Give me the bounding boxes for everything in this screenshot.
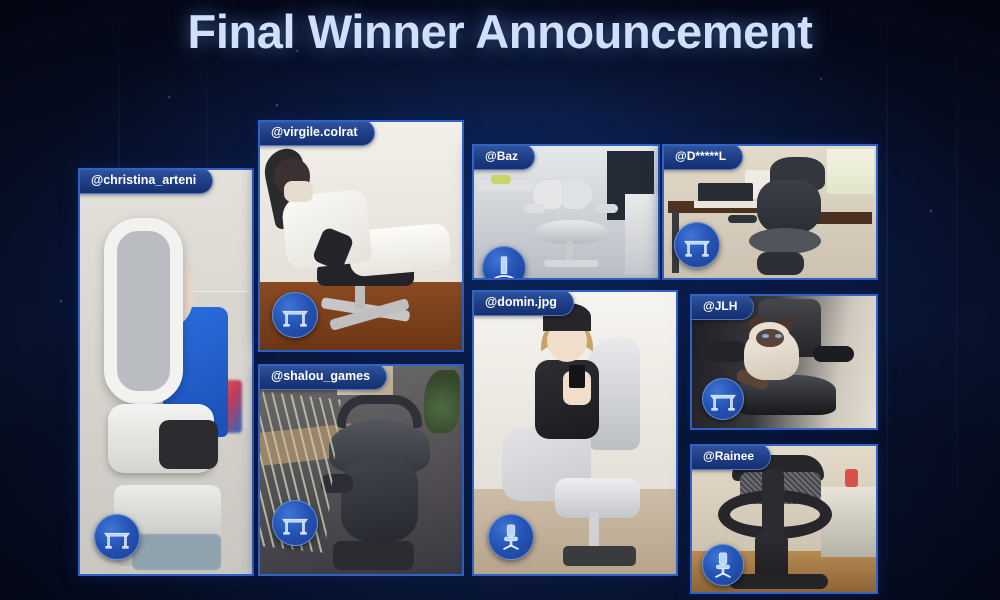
background-sparkle: [930, 210, 932, 212]
gallery-entry[interactable]: @Rainee: [690, 444, 878, 594]
entry-username: @shalou_games: [258, 364, 387, 390]
gallery-entry[interactable]: @virgile.colrat: [258, 120, 464, 352]
entry-username: @Baz: [472, 144, 535, 170]
background-sparkle: [820, 78, 822, 80]
background-light-streak: [886, 0, 888, 600]
announcement-slide: Final Winner Announcement @christina_art…: [0, 0, 1000, 600]
gallery-entry[interactable]: @shalou_games: [258, 364, 464, 576]
chair-icon: [488, 514, 534, 560]
entry-username: @D*****L: [662, 144, 743, 170]
gallery-entry[interactable]: @christina_arteni: [78, 168, 254, 576]
background-sparkle: [60, 300, 62, 302]
entry-photo: [80, 170, 252, 574]
background-light-streak: [956, 0, 958, 600]
background-sparkle: [276, 104, 278, 106]
gallery-entry[interactable]: @domin.jpg: [472, 290, 678, 576]
chair-icon: [702, 544, 744, 586]
gallery-entry[interactable]: @D*****L: [662, 144, 878, 280]
desk-icon: [272, 292, 318, 338]
gallery-entry[interactable]: @JLH: [690, 294, 878, 430]
gallery-entry[interactable]: @Baz: [472, 144, 660, 280]
page-title: Final Winner Announcement: [0, 4, 1000, 59]
entry-username: @domin.jpg: [472, 290, 574, 316]
entry-username: @virgile.colrat: [258, 120, 375, 146]
entry-username: @christina_arteni: [78, 168, 213, 194]
background-sparkle: [168, 96, 170, 98]
desk-icon: [674, 222, 720, 268]
entry-username: @Rainee: [690, 444, 771, 470]
desk-icon: [94, 514, 140, 560]
entry-username: @JLH: [690, 294, 754, 320]
desk-icon: [272, 500, 318, 546]
desk-icon: [702, 378, 744, 420]
